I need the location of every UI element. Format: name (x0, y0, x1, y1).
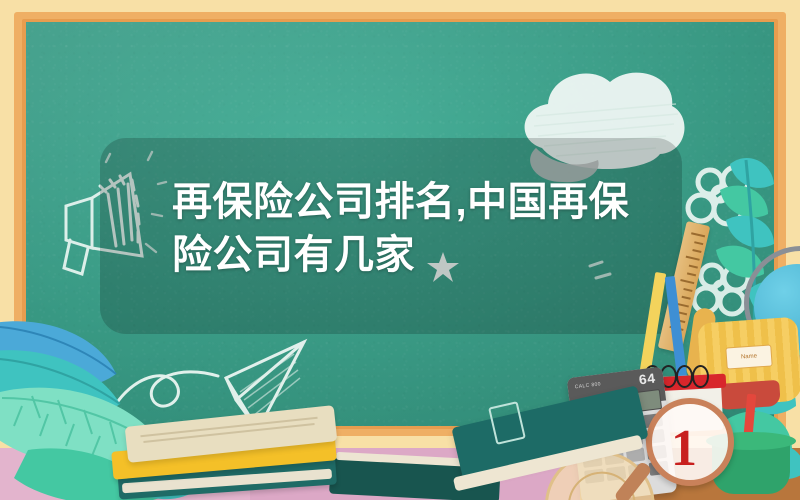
page-title: 再保险公司排名,中国再保险公司有几家 (172, 176, 642, 282)
backpack-name-label: Name (725, 344, 772, 369)
magnifier-number: 1 (646, 410, 722, 486)
calculator-display-value: 64 (638, 372, 657, 390)
calculator-brand-text: CALC 800 (574, 381, 601, 390)
banner-canvas: 再保险公司排名,中国再保险公司有几家 (0, 0, 800, 500)
notebook-spiral-ring (676, 365, 693, 388)
backpack-label-line-1: Name (741, 353, 757, 361)
notebook-spiral-ring (692, 365, 709, 388)
